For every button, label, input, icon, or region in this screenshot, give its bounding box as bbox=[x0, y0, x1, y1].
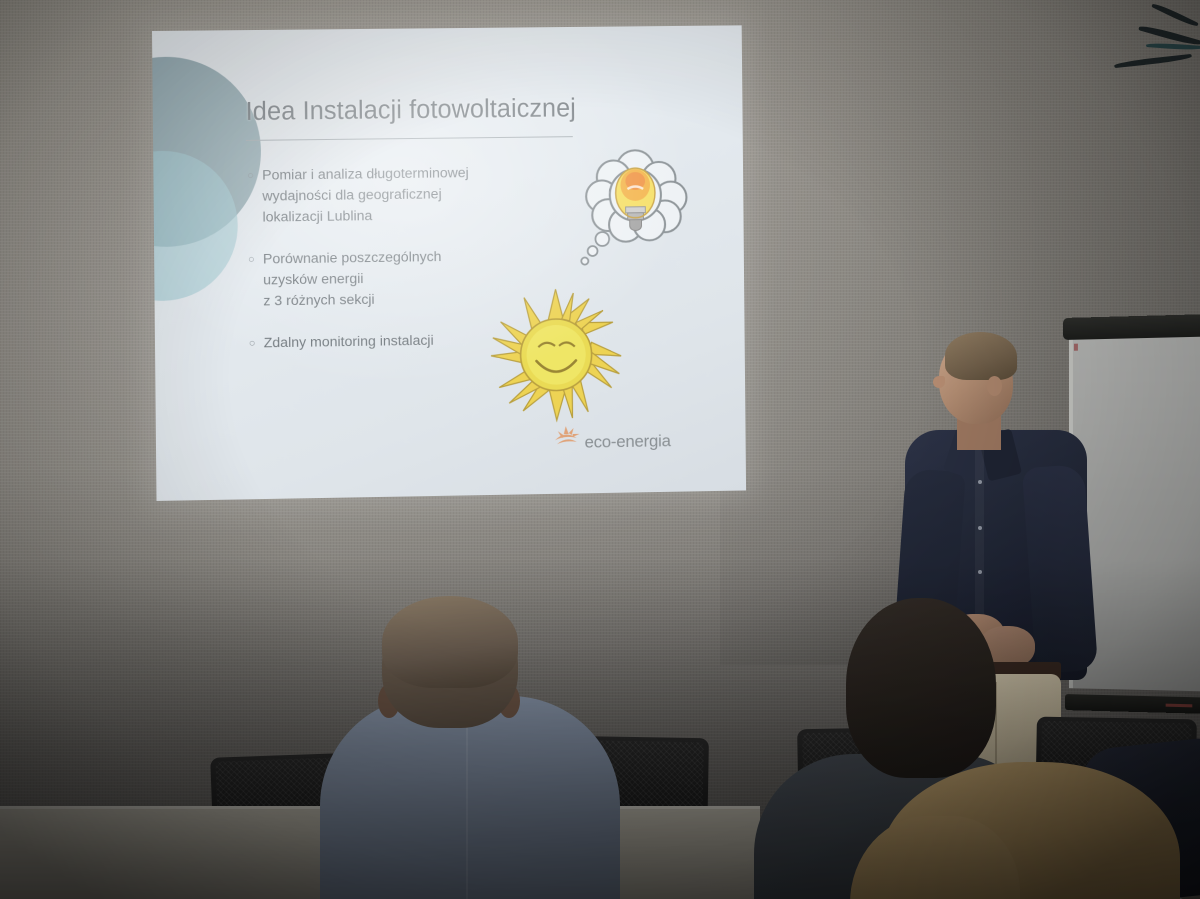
bullet-circle-icon: ○ bbox=[249, 333, 264, 354]
sunrise-icon bbox=[553, 424, 583, 450]
projected-slide: Idea Instalacji fotowoltaicznej ○ Pomiar… bbox=[152, 25, 746, 501]
smiling-sun-icon bbox=[488, 286, 623, 423]
slide-title: Idea Instalacji fotowoltaicznej bbox=[245, 94, 661, 127]
slide-surface: Idea Instalacji fotowoltaicznej ○ Pomiar… bbox=[152, 25, 746, 501]
bullet-text: Pomiar i analiza długoterminowej wydajno… bbox=[262, 163, 469, 228]
presenter-ear bbox=[987, 376, 1002, 396]
plant-leaves bbox=[1120, 0, 1200, 190]
presentation-room-photo: Idea Instalacji fotowoltaicznej ○ Pomiar… bbox=[0, 0, 1200, 899]
shirt-seam bbox=[466, 710, 468, 899]
attendee-front-left bbox=[320, 600, 620, 899]
shirt-button bbox=[978, 570, 982, 574]
logo-text: eco-energia bbox=[584, 432, 670, 450]
attendee-head bbox=[846, 598, 996, 778]
bullet-text: Porównanie poszczególnych uzysków energi… bbox=[263, 247, 442, 312]
eco-energia-logo: eco-energia bbox=[553, 422, 671, 450]
attendee-front-blonde bbox=[880, 762, 1200, 899]
screen-marker-pen bbox=[1166, 704, 1193, 708]
slide-title-underline bbox=[246, 136, 573, 141]
shirt-button bbox=[978, 526, 982, 530]
bullet-text: Zdalny monitoring instalacji bbox=[264, 331, 434, 354]
thought-bubble-lightbulb-icon bbox=[574, 141, 697, 271]
bullet-circle-icon: ○ bbox=[248, 250, 264, 313]
list-item: ○ Pomiar i analiza długoterminowej wydaj… bbox=[247, 162, 565, 229]
presenter-face-profile bbox=[933, 376, 945, 388]
bullet-circle-icon: ○ bbox=[247, 166, 263, 229]
shirt-button bbox=[978, 480, 982, 484]
presenter-hair bbox=[945, 332, 1017, 380]
attendee-hair bbox=[382, 596, 518, 688]
